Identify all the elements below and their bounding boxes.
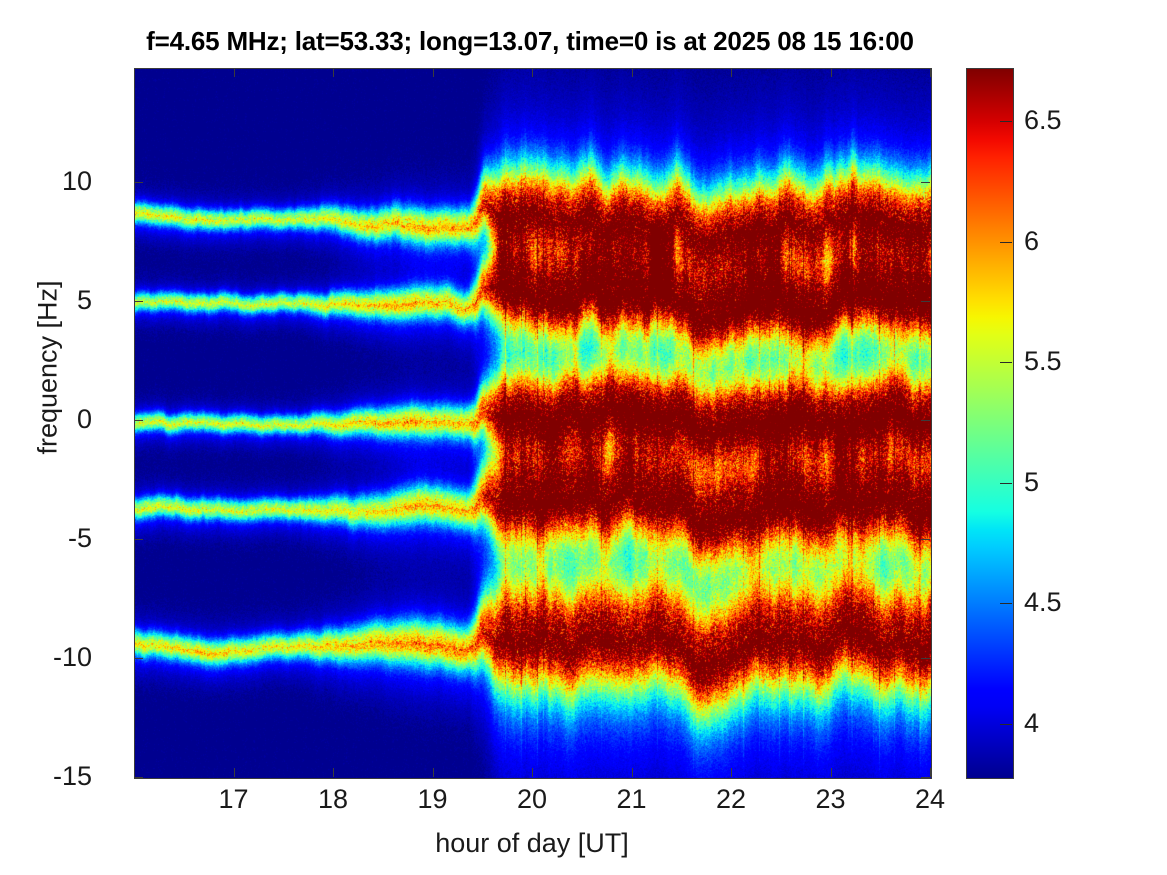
y-tick-mark-4 [134,658,143,659]
colorbar-tick-mark-0 [1000,121,1012,122]
x-tick-label-7: 24 [885,786,975,813]
x-tick-label-3: 20 [487,786,577,813]
y-tick-mark-1 [134,301,143,302]
x-tick-mark-2 [433,68,434,77]
y-tick-mark-0 [921,182,930,183]
y-tick-mark-5 [134,777,143,778]
y-tick-mark-0 [134,182,143,183]
colorbar [966,68,1014,779]
y-tick-mark-5 [921,777,930,778]
x-tick-mark-6 [831,768,832,777]
colorbar-tick-label-4: 4.5 [1024,589,1062,616]
x-tick-mark-5 [731,768,732,777]
x-axis-label: hour of day [UT] [134,828,930,859]
x-tick-mark-1 [333,768,334,777]
x-tick-label-4: 21 [587,786,677,813]
x-tick-mark-4 [632,768,633,777]
x-tick-mark-0 [234,768,235,777]
spectrogram-axes [134,68,932,779]
colorbar-tick-mark-1 [1000,242,1012,243]
colorbar-gradient [967,69,1013,778]
y-tick-mark-4 [921,658,930,659]
spectrogram-image [135,69,931,778]
colorbar-tick-mark-2 [1000,362,1012,363]
x-tick-mark-2 [433,768,434,777]
x-tick-mark-1 [333,68,334,77]
x-tick-label-5: 22 [686,786,776,813]
x-tick-mark-5 [731,68,732,77]
colorbar-tick-mark-4 [1000,603,1012,604]
x-tick-mark-3 [532,68,533,77]
x-tick-mark-7 [930,68,931,77]
y-tick-label-2: 0 [0,406,92,433]
y-tick-label-0: 10 [0,168,92,195]
y-tick-label-1: 5 [0,287,92,314]
y-tick-label-5: -15 [0,763,92,790]
y-tick-mark-1 [921,301,930,302]
colorbar-tick-label-5: 4 [1024,710,1039,737]
colorbar-tick-label-0: 6.5 [1024,107,1062,134]
colorbar-tick-label-1: 6 [1024,228,1039,255]
y-tick-label-3: -5 [0,525,92,552]
x-tick-mark-6 [831,68,832,77]
x-tick-mark-0 [234,68,235,77]
x-tick-label-6: 23 [786,786,876,813]
colorbar-tick-label-3: 5 [1024,469,1039,496]
y-tick-mark-2 [921,420,930,421]
y-tick-mark-3 [134,539,143,540]
colorbar-tick-mark-5 [1000,724,1012,725]
page-title: f=4.65 MHz; lat=53.33; long=13.07, time=… [0,26,1060,57]
y-tick-label-4: -10 [0,644,92,671]
colorbar-tick-label-2: 5.5 [1024,348,1062,375]
x-tick-label-0: 17 [189,786,279,813]
colorbar-tick-mark-3 [1000,483,1012,484]
x-tick-mark-7 [930,768,931,777]
y-tick-mark-2 [134,420,143,421]
x-tick-label-1: 18 [288,786,378,813]
x-tick-mark-4 [632,68,633,77]
x-tick-mark-3 [532,768,533,777]
y-tick-mark-3 [921,539,930,540]
x-tick-label-2: 19 [388,786,478,813]
